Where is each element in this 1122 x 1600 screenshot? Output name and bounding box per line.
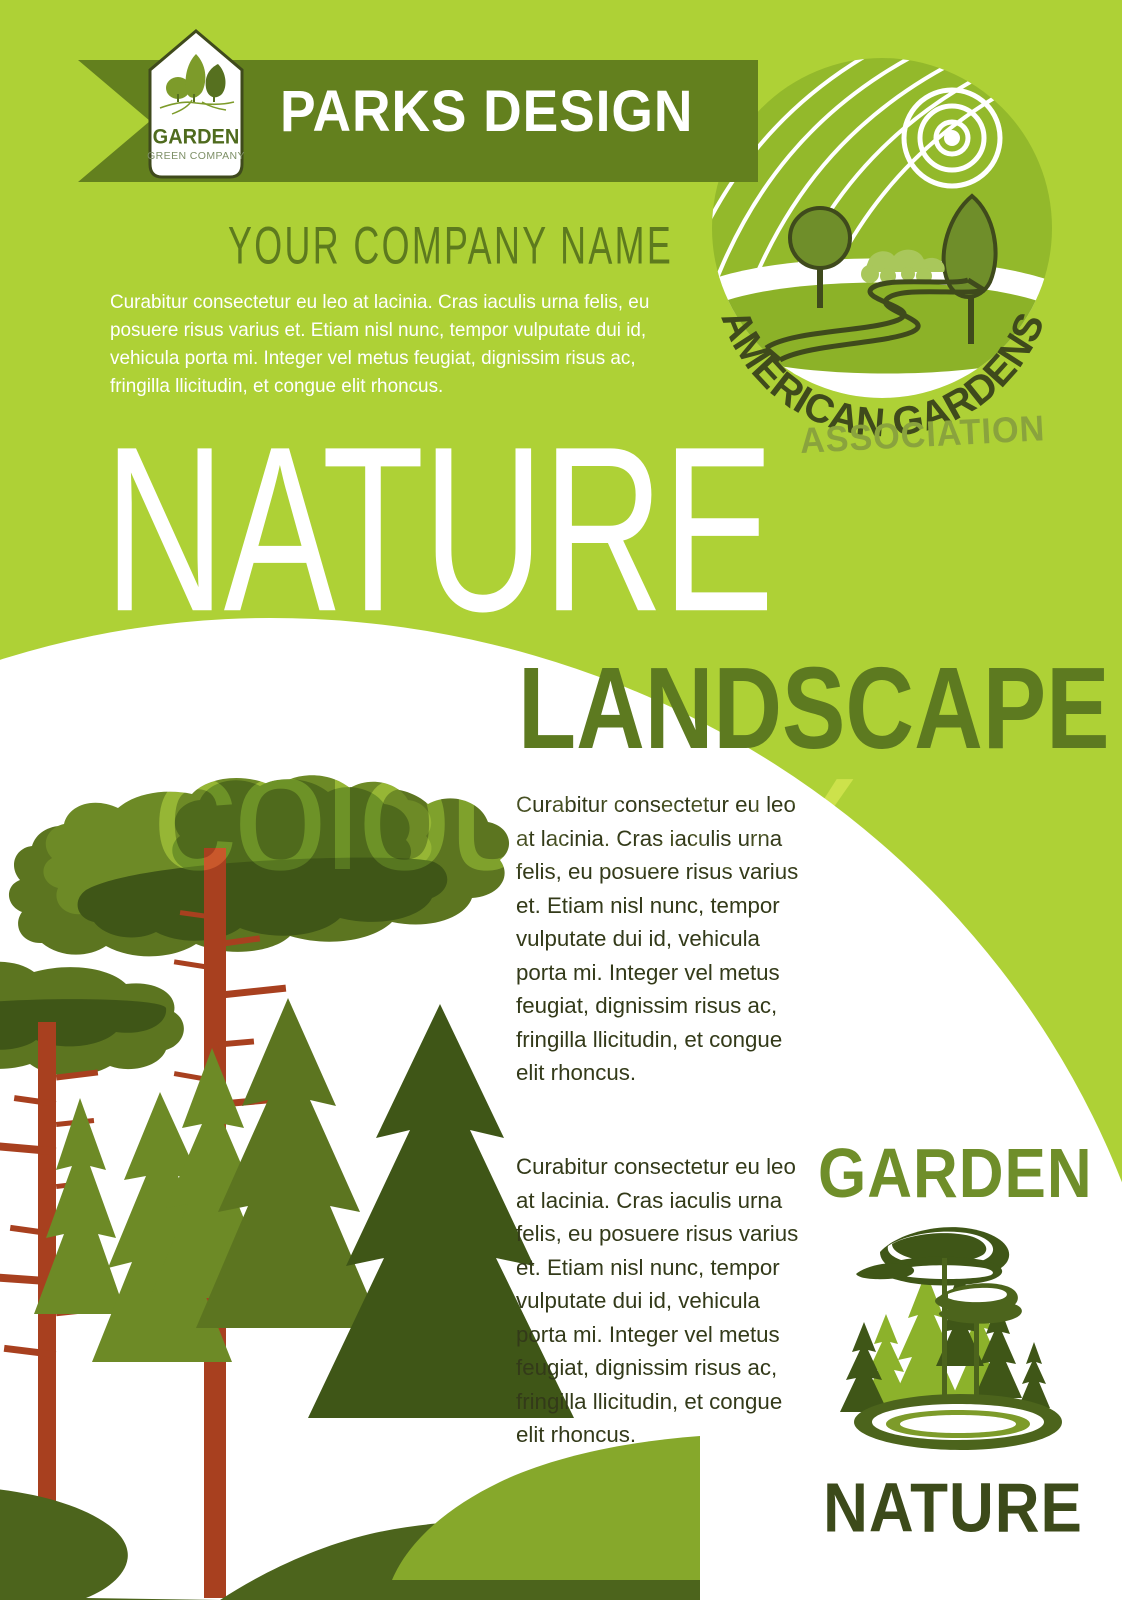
garden-nature-word-top: GARDEN xyxy=(818,1140,1088,1209)
headline-landscape: LANDSCAPE xyxy=(518,650,1110,766)
body-paragraph-1: Curabitur consectetur eu leo at lacinia.… xyxy=(516,788,803,1090)
intro-paragraph: Curabitur consectetur eu leo at lacinia.… xyxy=(110,288,673,400)
ribbon-title: PARKS DESIGN xyxy=(280,78,693,145)
company-name: YOUR COMPANY NAME xyxy=(228,214,673,276)
headline-nature: NATURE xyxy=(104,412,773,647)
foreground-path-light xyxy=(392,1436,700,1580)
garden-nature-word-bottom: NATURE xyxy=(818,1475,1088,1544)
garden-badge-logo[interactable]: GARDEN GREEN COMPANY xyxy=(146,28,246,180)
garden-nature-artwork xyxy=(838,1210,1068,1460)
garden-nature-logo[interactable]: GARDEN xyxy=(818,1140,1088,1550)
badge-tagline: GREEN COMPANY xyxy=(147,150,245,162)
badge-name: GARDEN xyxy=(153,125,240,149)
poster-canvas: PARKS DESIGN GARDEN GREEN COMPANY YOUR C… xyxy=(0,0,1122,1600)
emblem-sun-core xyxy=(944,130,960,146)
body-paragraph-2: Curabitur consectetur eu leo at lacinia.… xyxy=(516,1150,803,1452)
